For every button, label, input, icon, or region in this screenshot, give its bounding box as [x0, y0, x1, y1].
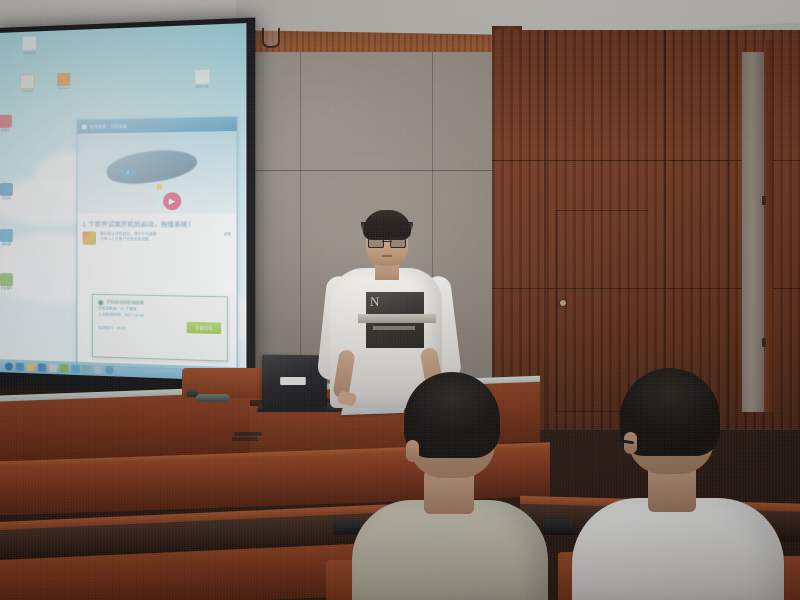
music-note-icon: ♪ — [121, 166, 135, 179]
desktop-icon-label: WinRAR — [56, 87, 71, 91]
promo-more-link[interactable]: 详情 — [223, 232, 231, 237]
result-dialog[interactable]: 开机启动项检测结果 开机项数量：11 个程序 上次检测时间：2017-10-18… — [92, 294, 228, 362]
promo-text: 建议禁止开机启动，提升开机速度 已有 1.2 亿用户完成优化设置 — [100, 232, 219, 243]
headline-text: 1 个软件试图开机后启动，拖慢系统！ — [83, 219, 231, 229]
desktop-icon-browser[interactable]: 浏览器 — [0, 183, 14, 201]
desktop-icon-setup[interactable]: 安装程序 — [0, 273, 14, 291]
asset-tag-sticker — [280, 377, 306, 385]
podium-label — [234, 432, 262, 436]
shirt-print-letter: N — [370, 294, 379, 310]
ceiling-bracket-icon — [262, 28, 280, 48]
projected-desktop[interactable]: 新建文档 工作资料 WinRAR 软件管家 回收站 浏览器 — [0, 23, 246, 382]
eyeglasses-icon — [368, 237, 406, 246]
hero-banner: ♪ ▶ — [77, 131, 236, 213]
desktop-icon-document[interactable]: 新建文档 — [22, 35, 37, 55]
shirt-print-subline — [373, 326, 415, 330]
door-frame — [742, 52, 764, 412]
desktop-icon-app[interactable]: 软件管家 — [194, 69, 210, 90]
check-icon — [98, 300, 103, 305]
projection-screen: 新建文档 工作资料 WinRAR 软件管家 回收站 浏览器 — [0, 17, 255, 398]
door-knob-icon[interactable] — [560, 300, 566, 306]
dialog-footer: 启动耗时：45 秒 立即优化 — [98, 320, 221, 335]
wooden-door[interactable] — [764, 40, 774, 412]
play-icon: ▶ — [163, 192, 181, 210]
audience-left-ear — [406, 440, 419, 462]
desktop-icon-label: 工作资料 — [20, 90, 35, 94]
folder-icon[interactable] — [27, 363, 35, 371]
window-title: 软件管家 · 开机加速 — [90, 123, 127, 130]
media-icon[interactable] — [49, 364, 57, 372]
optimize-button[interactable]: 立即优化 — [187, 322, 222, 334]
desktop-icon-label: 回收站 — [0, 129, 13, 133]
browser-icon — [0, 183, 13, 196]
application-window[interactable]: 软件管家 · 开机加速 ♪ ▶ 1 个软件试图开机后启动，拖慢系统！ 建议禁止开… — [76, 116, 237, 371]
blimp-illustration — [105, 144, 200, 188]
dialog-footer-text: 启动耗时：45 秒 — [98, 326, 126, 332]
audience-right-shirt — [572, 498, 784, 600]
recycle-bin-icon — [0, 115, 12, 128]
tray-icon[interactable] — [105, 366, 113, 375]
card-shape — [142, 190, 157, 205]
door-handle-icon[interactable] — [762, 338, 766, 347]
dot-shape — [157, 184, 162, 189]
classroom-photo: 新建文档 工作资料 WinRAR 软件管家 回收站 浏览器 — [0, 0, 800, 600]
eyeglass-case[interactable] — [196, 394, 230, 402]
security-icon[interactable] — [60, 364, 68, 372]
start-icon[interactable] — [5, 362, 13, 370]
laptop[interactable] — [262, 355, 327, 408]
desktop-icon-label: 软件管家 — [194, 85, 210, 89]
desk-label — [232, 437, 258, 441]
smartphone-on-desk[interactable] — [543, 519, 573, 534]
smartphone-on-desk[interactable] — [334, 520, 360, 534]
door-handle-icon[interactable] — [762, 196, 766, 205]
desktop-icon-recycle-bin[interactable]: 回收站 — [0, 115, 13, 133]
promo-thumbnail-icon — [83, 231, 96, 244]
word-icon[interactable] — [38, 363, 46, 371]
desktop-icon-label: 安装程序 — [0, 287, 14, 291]
promo-line-2: 已有 1.2 亿用户完成优化设置 — [100, 237, 219, 243]
presenter-hair — [363, 210, 411, 240]
player-icon — [0, 229, 13, 242]
desktop-icon-label: 播放器 — [0, 243, 14, 247]
volume-icon[interactable] — [94, 365, 102, 373]
promo-row[interactable]: 建议禁止开机启动，提升开机速度 已有 1.2 亿用户完成优化设置 详情 — [83, 231, 231, 245]
network-icon[interactable] — [83, 365, 91, 373]
setup-icon — [0, 273, 13, 286]
app-logo-icon — [82, 124, 87, 129]
chat-icon[interactable] — [71, 365, 79, 373]
audience-left-shirt — [352, 500, 548, 600]
desktop-icon-label: 新建文档 — [22, 52, 37, 56]
app-icon — [194, 69, 210, 85]
shirt-print-bar — [358, 314, 436, 323]
presenter-mouth — [382, 255, 392, 257]
document-icon — [22, 35, 37, 51]
desktop-icon-label: 浏览器 — [0, 197, 14, 200]
desktop-icon-folder[interactable]: 工作资料 — [20, 74, 35, 94]
archive-icon — [57, 73, 70, 87]
desktop-icon-archive[interactable]: WinRAR — [56, 73, 71, 91]
folder-icon — [20, 74, 35, 90]
browser-icon[interactable] — [16, 363, 24, 371]
desktop-icon-player[interactable]: 播放器 — [0, 229, 14, 247]
